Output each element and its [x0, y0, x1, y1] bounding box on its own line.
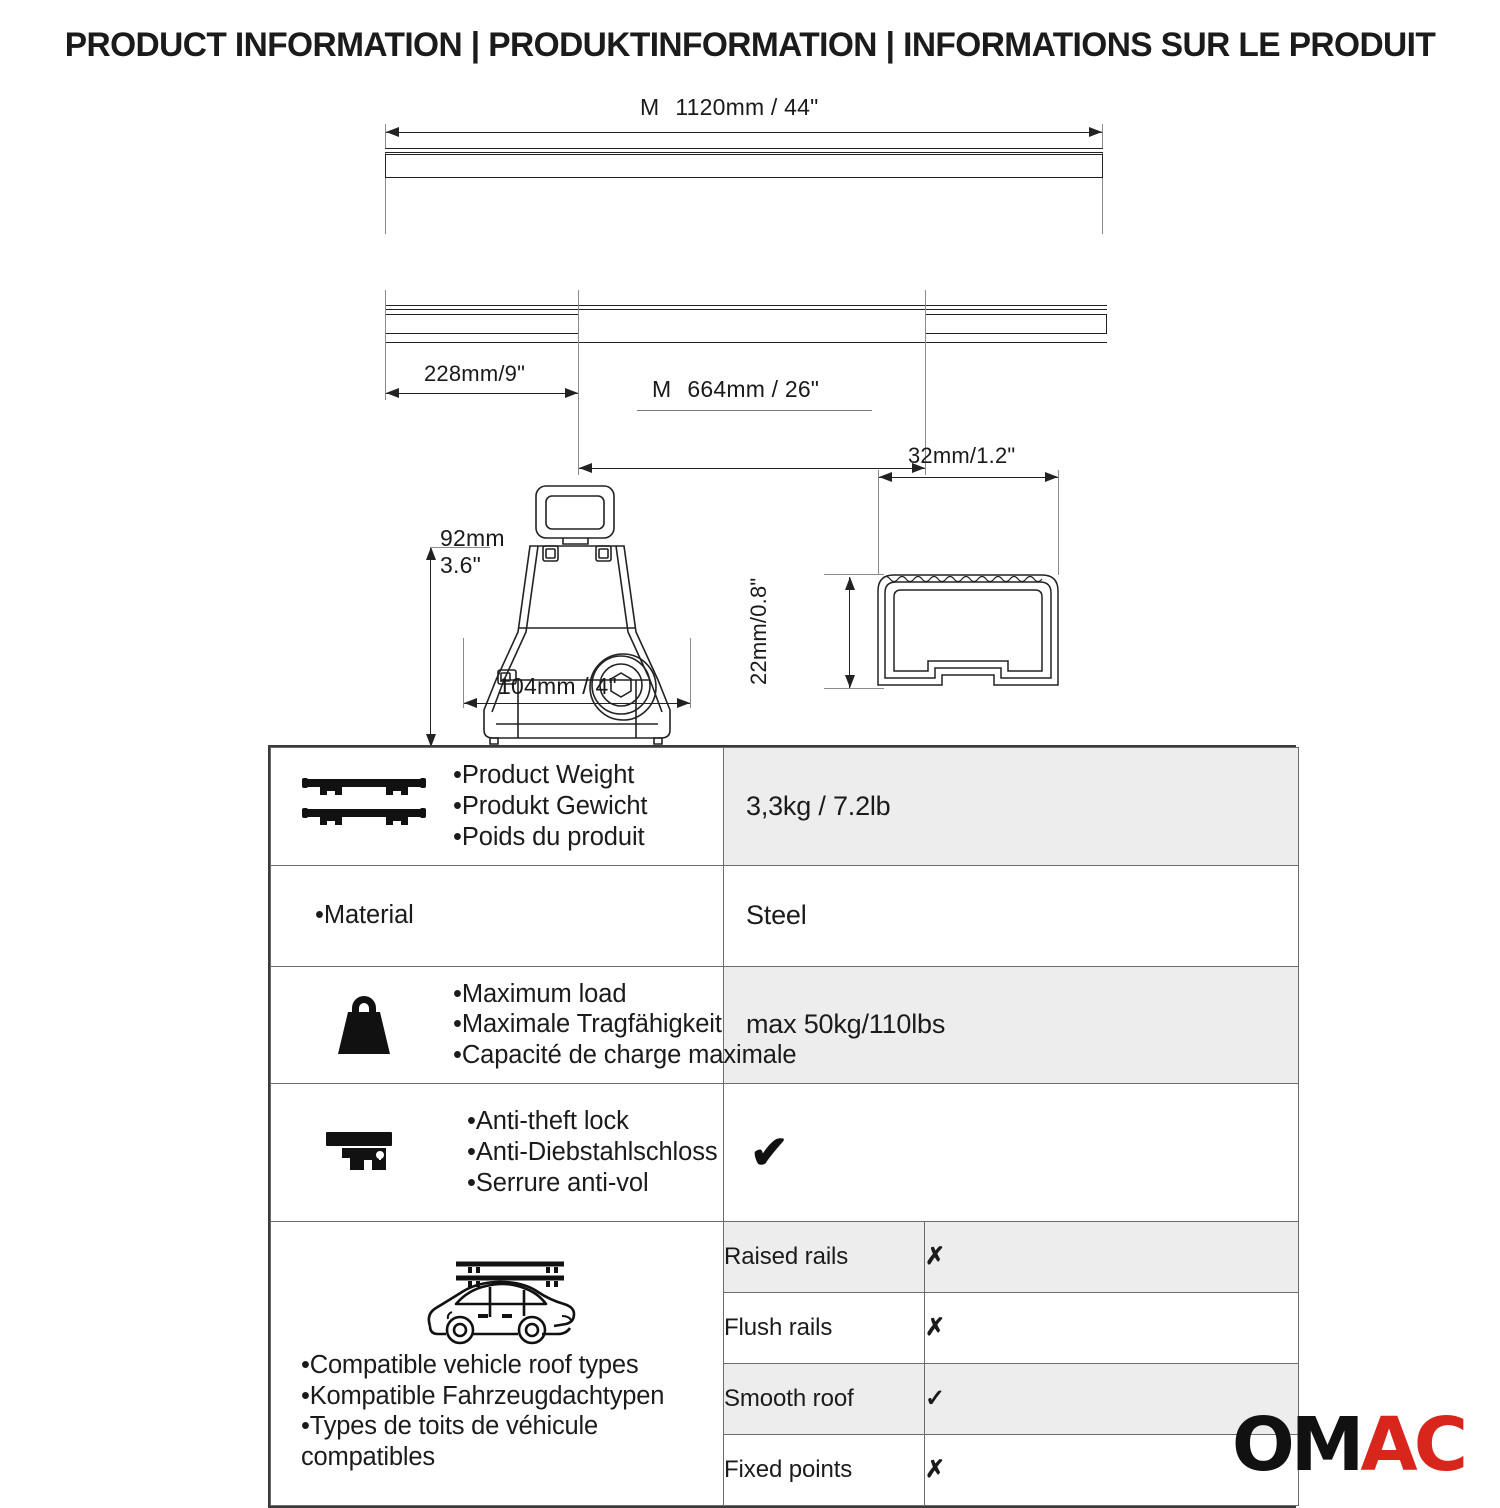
row-label-cell-compatibility: •Compatible vehicle roof types •Kompatib… [271, 1221, 724, 1505]
label-weight-en: •Product Weight [453, 760, 647, 791]
table-row-material: •Material Steel [271, 865, 1299, 966]
ext-line-prof-bottom [824, 688, 884, 689]
bar-bottom-baseline [385, 342, 1107, 343]
logo-text-black: OM [1232, 1402, 1361, 1488]
table-row-max-load: •Maximum load •Maximale Tragfähigkeit •C… [271, 966, 1299, 1084]
arrow-left-664 [579, 463, 592, 473]
value-product-weight: 3,3kg / 7.2lb [724, 781, 1298, 832]
roof-type-name-smooth: Smooth roof [724, 1363, 925, 1434]
label-maxload-de: •Maximale Tragfähigkeit [453, 1009, 796, 1040]
row-labels-weight: •Product Weight •Produkt Gewicht •Poids … [453, 760, 647, 853]
dim-bar-length: M1120mm / 44" [640, 94, 818, 121]
roof-types-table: Raised rails ✗ Flush rails ✗ Smooth roof… [724, 1222, 1298, 1505]
dim-foot-height: 92mm 3.6" [440, 525, 505, 579]
label-maxload-en: •Maximum load [453, 979, 796, 1010]
dimline-664 [579, 468, 925, 469]
car-with-rack-icon [289, 1254, 713, 1350]
bar-top-capstrip [385, 148, 1103, 153]
dim-foot-height-mm: 92mm [440, 525, 505, 552]
dim-bar-spread: M664mm / 26" [652, 376, 819, 403]
foot-plate-right [925, 314, 1107, 334]
omac-logo: OMAC [1232, 1408, 1464, 1482]
row-label-cell-material: •Material [271, 865, 724, 966]
ext-line-footw-right [690, 638, 691, 708]
arrow-up-22 [845, 577, 855, 590]
weight-icon [289, 990, 439, 1060]
dim-bar-spread-prefix: M [652, 376, 671, 402]
page-title: PRODUCT INFORMATION | PRODUKTINFORMATION… [23, 26, 1478, 65]
row-labels-max-load: •Maximum load •Maximale Tragfähigkeit •C… [453, 979, 796, 1072]
roof-type-mark-flush: ✗ [925, 1292, 1299, 1363]
arrow-left-228 [386, 388, 399, 398]
arrow-left-104 [464, 698, 477, 708]
roof-type-name-flush: Flush rails [724, 1292, 925, 1363]
dim-bar-spread-underline [637, 410, 872, 411]
ext-line-left-1120-b [385, 178, 386, 196]
bar-cross-section-drawing [868, 567, 1068, 707]
dimline-32 [879, 477, 1058, 478]
label-maxload-fr: •Capacité de charge maximale [453, 1040, 796, 1071]
dimline-104 [464, 703, 690, 704]
logo-text-red: AC [1360, 1402, 1464, 1488]
bar-bottom-capstrip [385, 305, 1107, 310]
arrow-left-32 [879, 472, 892, 482]
dim-bar-spread-value: 664mm / 26" [687, 376, 819, 402]
arrow-right-104 [677, 698, 690, 708]
ext-line-foot-mid [578, 290, 579, 475]
row-value-cell-weight: 3,3kg / 7.2lb [724, 748, 1299, 866]
technical-drawing: M1120mm / 44" 228mm/9" M664mm / 26" [0, 80, 1500, 730]
roof-type-row-smooth: Smooth roof ✓ [724, 1363, 1298, 1434]
row-value-cell-anti-theft: ✔ [724, 1084, 1299, 1222]
compat-labels: •Compatible vehicle roof types •Kompatib… [289, 1350, 713, 1472]
label-weight-fr: •Poids du produit [453, 822, 647, 853]
roof-type-name-fixed: Fixed points [724, 1434, 925, 1505]
dim-profile-height: 22mm/0.8" [746, 578, 772, 685]
roof-type-name-raised: Raised rails [724, 1222, 925, 1293]
dimline-92 [430, 547, 431, 747]
label-compat-de: •Kompatible Fahrzeugdachtypen [301, 1381, 713, 1412]
dimline-22 [849, 577, 850, 688]
roof-type-row-raised: Raised rails ✗ [724, 1222, 1298, 1293]
table-row-product-weight: •Product Weight •Produkt Gewicht •Poids … [271, 748, 1299, 866]
row-label-cell-weight: •Product Weight •Produkt Gewicht •Poids … [271, 748, 724, 866]
label-compat-en: •Compatible vehicle roof types [301, 1350, 713, 1381]
arrow-down-22 [845, 675, 855, 688]
row-value-cell-material: Steel [724, 865, 1299, 966]
lock-icon [289, 1124, 439, 1180]
row-label-cell-max-load: •Maximum load •Maximale Tragfähigkeit •C… [271, 966, 724, 1084]
label-antitheft-fr: •Serrure anti-vol [467, 1168, 718, 1199]
dimline-1120 [386, 132, 1102, 133]
ext-line-foot-left [385, 290, 386, 400]
dim-foot-width: 104mm / 4" [498, 673, 617, 700]
value-material: Steel [724, 890, 1298, 941]
table-row-anti-theft: •Anti-theft lock •Anti-Diebstahlschloss … [271, 1084, 1299, 1222]
roof-type-row-fixed: Fixed points ✗ [724, 1434, 1298, 1505]
dim-bar-length-value: 1120mm / 44" [675, 94, 818, 120]
label-compat-fr2: compatibles [301, 1442, 713, 1473]
ext-line-prof-top [824, 574, 884, 575]
roof-type-row-flush: Flush rails ✗ [724, 1292, 1298, 1363]
dim-foot-offset: 228mm/9" [424, 361, 525, 387]
crossbars-icon [289, 775, 439, 837]
ext-line-foot-top [430, 547, 490, 548]
ext-line-prof-left [878, 470, 879, 575]
foot-plate-left [385, 314, 579, 334]
dim-profile-width: 32mm/1.2" [908, 443, 1015, 469]
arrow-left-1120 [386, 127, 399, 137]
anti-theft-check-icon: ✔ [724, 1123, 1298, 1181]
bar-top-body [385, 154, 1103, 178]
arrow-right-1120 [1089, 127, 1102, 137]
row-label-cell-anti-theft: •Anti-theft lock •Anti-Diebstahlschloss … [271, 1084, 724, 1222]
label-material-en: •Material [315, 900, 414, 931]
specification-table: •Product Weight •Produkt Gewicht •Poids … [268, 745, 1296, 1508]
table-row-compatibility: •Compatible vehicle roof types •Kompatib… [271, 1221, 1299, 1505]
label-weight-de: •Produkt Gewicht [453, 791, 647, 822]
value-max-load: max 50kg/110lbs [724, 999, 1298, 1050]
ext-line-right-1120-b [1102, 178, 1103, 196]
label-antitheft-en: •Anti-theft lock [467, 1106, 718, 1137]
label-antitheft-de: •Anti-Diebstahlschloss [467, 1137, 718, 1168]
row-labels-material: •Material [315, 900, 414, 931]
dim-bar-length-prefix: M [640, 94, 659, 120]
tower-foot-drawing [418, 480, 738, 770]
roof-types-cell: Raised rails ✗ Flush rails ✗ Smooth roof… [724, 1221, 1299, 1505]
ext-line-prof-right [1058, 470, 1059, 575]
row-labels-anti-theft: •Anti-theft lock •Anti-Diebstahlschloss … [453, 1106, 718, 1199]
arrow-right-228 [565, 388, 578, 398]
arrow-up-92 [426, 547, 436, 560]
label-compat-fr: •Types de toits de véhicule [301, 1411, 713, 1442]
dimline-228 [386, 393, 578, 394]
arrow-right-32 [1045, 472, 1058, 482]
roof-type-mark-raised: ✗ [925, 1222, 1299, 1293]
row-value-cell-max-load: max 50kg/110lbs [724, 966, 1299, 1084]
dim-foot-height-in: 3.6" [440, 552, 505, 579]
